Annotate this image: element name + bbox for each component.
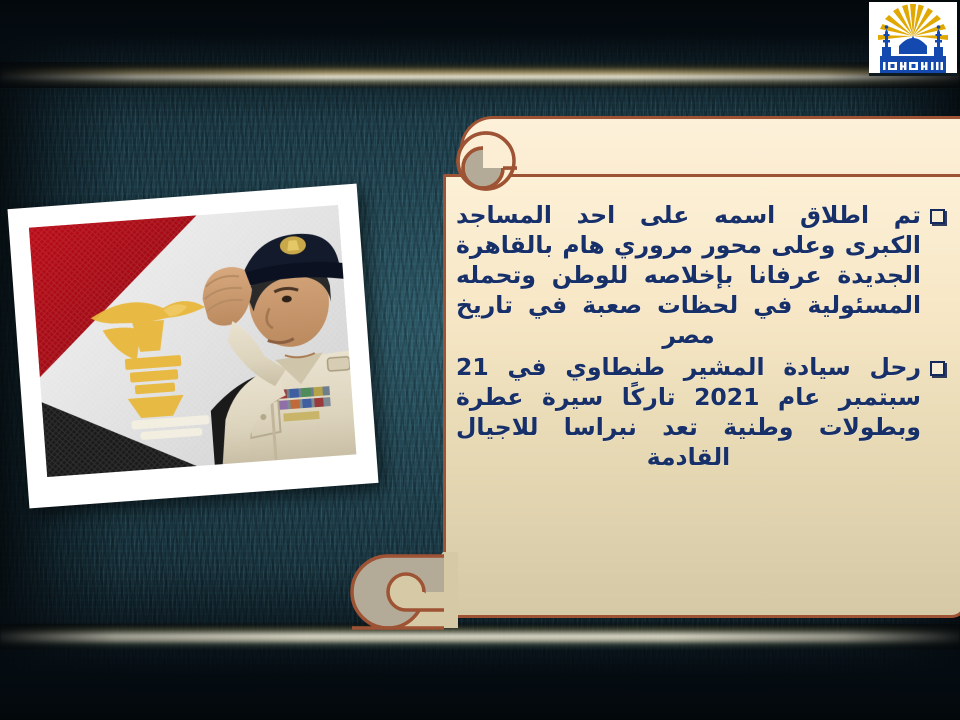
photo-frame [7, 184, 378, 509]
scroll-header-bar [460, 116, 960, 182]
tantawi-photo [7, 184, 378, 509]
parchment-scroll: تم اطلاق اسمه على احد المساجد الكبرى وعل… [352, 112, 952, 622]
bullet-item-1: تم اطلاق اسمه على احد المساجد الكبرى وعل… [456, 200, 945, 350]
background-vignette-top [0, 0, 960, 120]
scroll-text-content: تم اطلاق اسمه على احد المساجد الكبرى وعل… [452, 200, 957, 610]
tantawi-salute-illustration [29, 205, 356, 477]
cairo-governorate-logo [869, 2, 957, 76]
bullet-square-icon-1 [930, 209, 945, 224]
scroll-curl-top-icon [455, 130, 517, 192]
scroll-curl-bottom-icon [348, 550, 458, 630]
bullet-text-1: تم اطلاق اسمه على احد المساجد الكبرى وعل… [456, 200, 921, 350]
bullet-item-2: رحل سيادة المشير طنطاوي في 21 سبتمبر عام… [456, 352, 945, 472]
scroll-curl-top-svg [455, 130, 517, 192]
bullet-text-2: رحل سيادة المشير طنطاوي في 21 سبتمبر عام… [456, 352, 921, 472]
bullet-square-icon-2 [930, 361, 945, 376]
cairo-governorate-logo-icon [869, 2, 957, 76]
scroll-curl-bottom-svg [348, 550, 458, 630]
photo-image [29, 205, 356, 477]
slide-root: تم اطلاق اسمه على احد المساجد الكبرى وعل… [0, 0, 960, 720]
